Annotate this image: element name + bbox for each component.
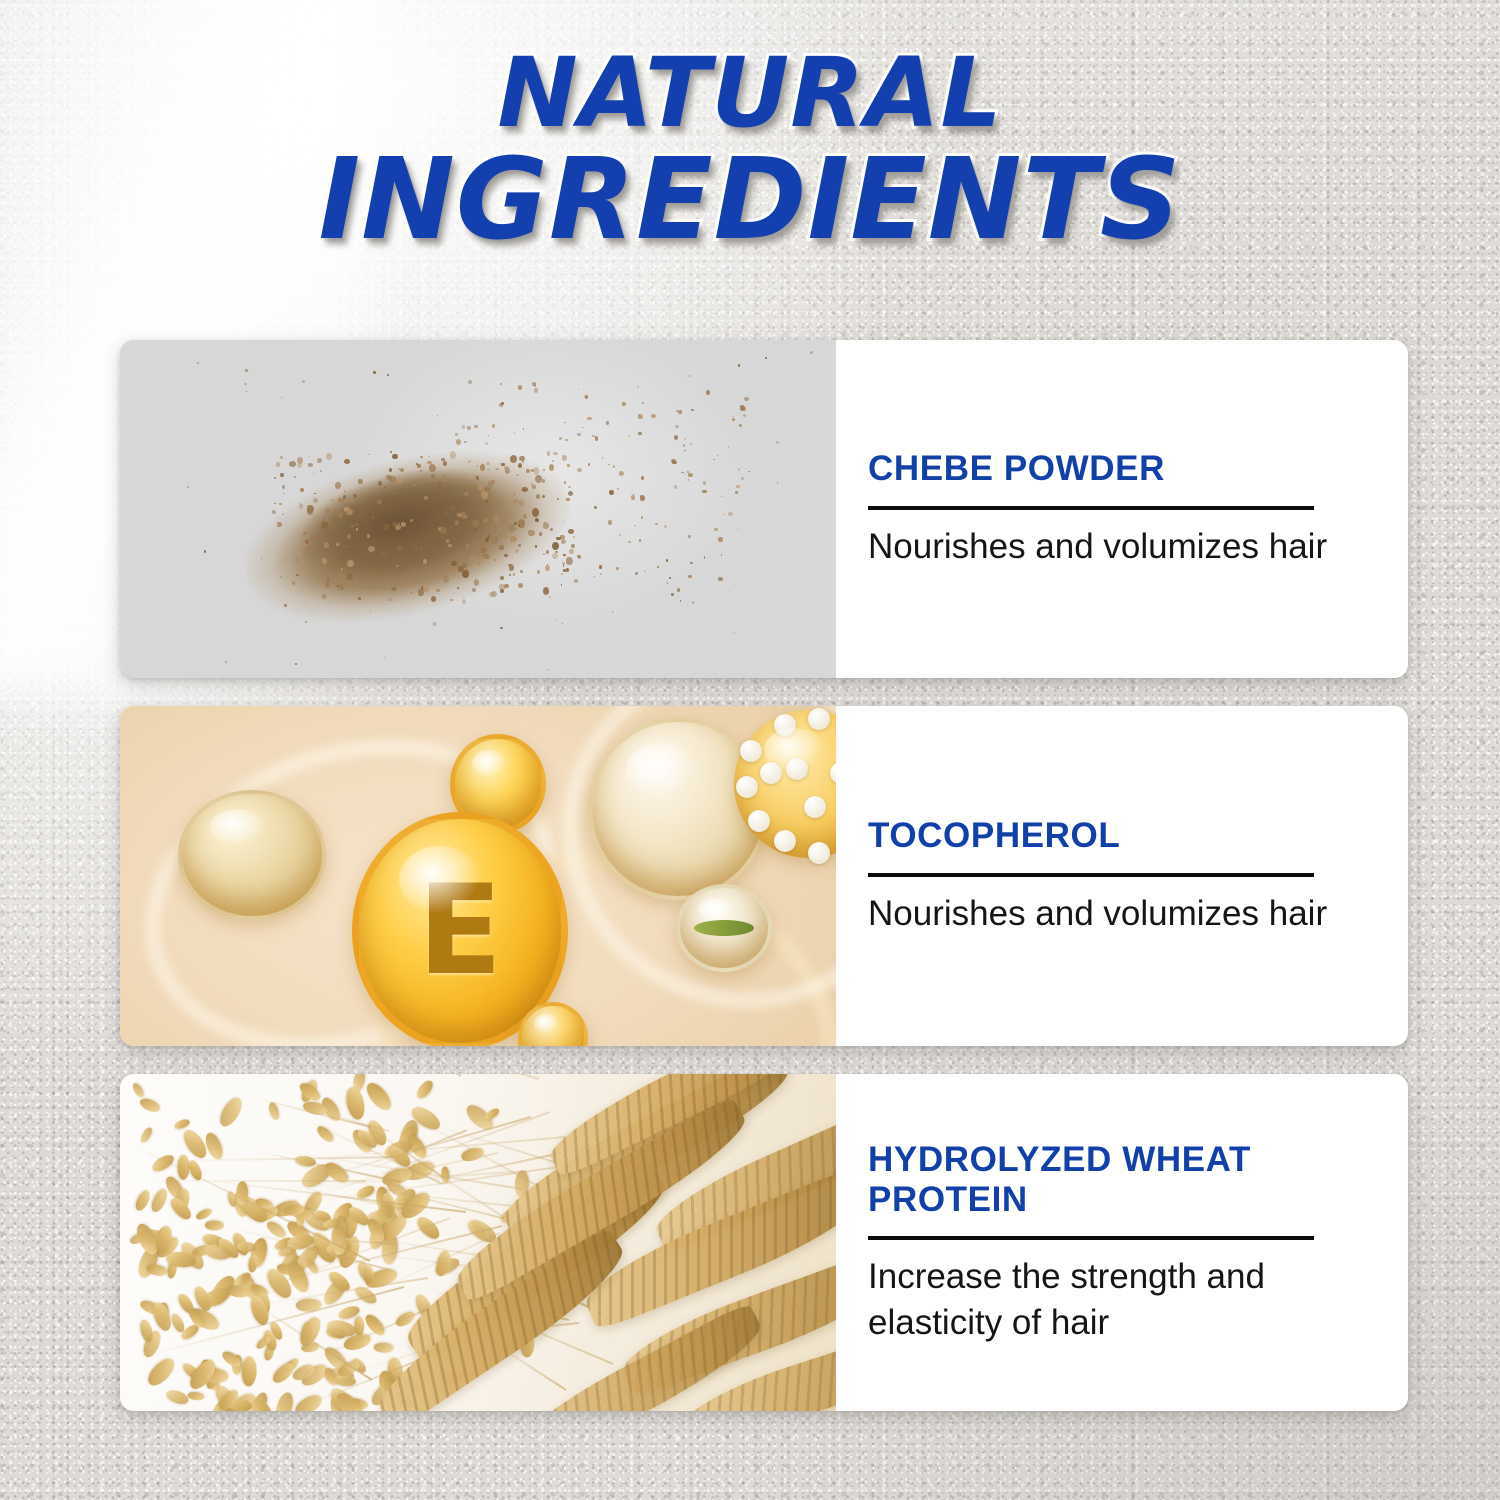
tocopherol-text: TOCOPHEROL Nourishes and volumizes hair [836, 706, 1408, 1046]
chebe-powder-text: CHEBE POWDER Nourishes and volumizes hai… [836, 340, 1408, 678]
wheat-grain [138, 1096, 162, 1114]
wheat-grains-and-ears-image [120, 1074, 836, 1411]
wheat-awn [147, 1180, 366, 1182]
ingredient-title: HYDROLYZED WHEAT PROTEIN [868, 1140, 1360, 1219]
ingredient-card-tocopherol[interactable]: E TOCOPHEROL Nourishes and volumizes hai… [120, 706, 1408, 1046]
title-divider [868, 873, 1314, 877]
vitamin-e-capsules-image: E [120, 706, 836, 1046]
wheat-grain [241, 1356, 257, 1387]
oil-bubble-small-left [178, 790, 326, 920]
molecule-dot [830, 762, 836, 784]
wheat-grain [165, 1387, 190, 1406]
chebe-powder-image [120, 340, 836, 678]
wheat-ear-cluster [346, 1074, 836, 1411]
ingredient-description: Increase the strength and elasticity of … [868, 1254, 1360, 1345]
wheat-grain [168, 1195, 195, 1223]
molecule-dot [774, 714, 796, 736]
infographic-page: NATURAL INGREDIENTS CHEBE POWDER Nourish… [0, 0, 1500, 1500]
wheat-grain [297, 1314, 325, 1349]
wheat-grain [146, 1263, 169, 1278]
wheat-grain [133, 1188, 153, 1212]
wheat-grain [247, 1254, 259, 1273]
molecule-dot [740, 740, 762, 762]
wheat-grain [188, 1391, 205, 1401]
wheat-grain [273, 1390, 297, 1411]
wheat-grain [130, 1080, 145, 1098]
molecule-dot [760, 762, 782, 784]
oil-bubble-seed [676, 884, 772, 972]
wheat-grain [237, 1241, 256, 1251]
title-divider [868, 1236, 1314, 1240]
wheat-awn [359, 1074, 539, 1080]
molecule-dot [808, 708, 830, 730]
wheat-grain [149, 1300, 174, 1333]
seed-detail [694, 920, 754, 936]
wheat-grain [195, 1206, 213, 1221]
wheat-grain [216, 1095, 246, 1131]
wheat-awn [349, 1074, 461, 1077]
wheat-grain [148, 1187, 170, 1215]
hydrolyzed-wheat-protein-text: HYDROLYZED WHEAT PROTEIN Increase the st… [836, 1074, 1408, 1411]
powder-scatter [120, 340, 836, 678]
molecule-dot [774, 830, 796, 852]
ingredient-description: Nourishes and volumizes hair [868, 524, 1360, 570]
wheat-grain [205, 1221, 224, 1231]
ingredient-card-chebe-powder[interactable]: CHEBE POWDER Nourishes and volumizes hai… [120, 340, 1408, 678]
title-divider [868, 506, 1314, 510]
ingredient-card-hydrolyzed-wheat-protein[interactable]: HYDROLYZED WHEAT PROTEIN Increase the st… [120, 1074, 1408, 1411]
title-line-1: NATURAL [0, 48, 1500, 138]
title-line-2: INGREDIENTS [0, 148, 1500, 253]
ingredient-title: CHEBE POWDER [868, 449, 1360, 489]
page-title: NATURAL INGREDIENTS [0, 48, 1500, 254]
molecule-dot [736, 776, 758, 798]
molecule-dot [804, 796, 826, 818]
ingredient-description: Nourishes and volumizes hair [868, 891, 1360, 937]
wheat-grain [138, 1126, 154, 1144]
molecule-dot [786, 758, 808, 780]
molecule-dot [808, 842, 830, 864]
wheat-grain [144, 1354, 179, 1389]
wheat-awn [298, 1103, 390, 1131]
ingredient-title: TOCOPHEROL [868, 816, 1360, 856]
molecule-dot [748, 810, 770, 832]
